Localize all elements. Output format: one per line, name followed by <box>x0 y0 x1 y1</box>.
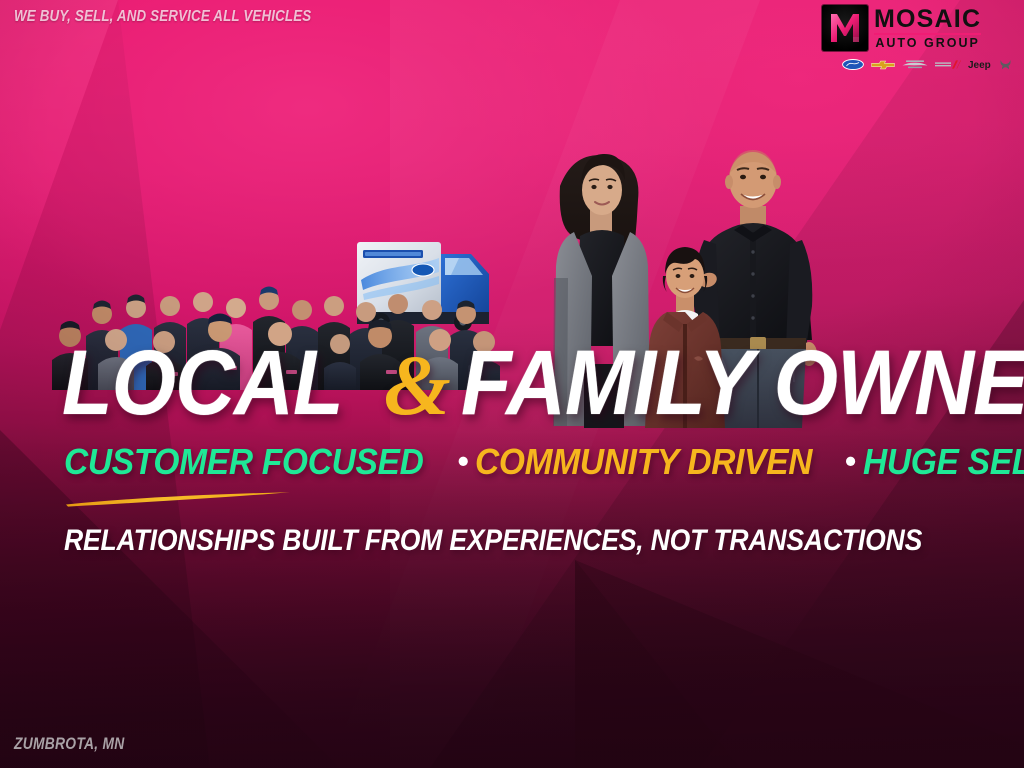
brand-logo-strip: Jeep <box>822 57 1014 72</box>
tagline-separator-2-icon: • <box>838 445 863 477</box>
ram-head-icon <box>999 58 1012 71</box>
mosaic-m-monogram-icon <box>822 5 868 51</box>
dodge-stripes-icon <box>935 58 961 71</box>
headline: LOCAL & FAMILY OWNED <box>62 345 972 431</box>
headline-part-2: FAMILY OWNED <box>461 345 1024 422</box>
logo-name: MOSAIC <box>874 7 981 32</box>
logo-text: MOSAIC AUTO GROUP <box>874 5 981 50</box>
advertisement-banner: WE BUY, SELL, AND SERVICE ALL VEHICLES <box>0 0 1024 768</box>
svg-text:Jeep: Jeep <box>968 60 991 70</box>
ford-oval-icon <box>842 58 864 71</box>
chrysler-wings-icon <box>902 58 928 71</box>
logo-row: MOSAIC AUTO GROUP <box>822 5 1014 53</box>
tagline-item-1: CUSTOMER FOCUSED <box>64 444 424 480</box>
logo-subname: AUTO GROUP <box>874 37 981 50</box>
gold-swoosh-divider-icon <box>64 489 294 509</box>
jeep-wordmark-icon: Jeep <box>968 58 992 71</box>
headline-part-1: LOCAL <box>62 345 343 422</box>
tagline-item-3: HUGE SELECTION <box>863 444 1024 480</box>
brand-logo[interactable]: MOSAIC AUTO GROUP <box>822 5 1014 73</box>
headline-ampersand: & <box>374 349 461 421</box>
tagline-item-2: COMMUNITY DRIVEN <box>475 444 812 480</box>
logo-divider <box>874 33 981 35</box>
subtitle: RELATIONSHIPS BUILT FROM EXPERIENCES, NO… <box>64 524 922 558</box>
tagline-separator-1-icon: • <box>451 445 476 477</box>
chevrolet-bowtie-icon <box>871 58 895 71</box>
location-label: ZUMBROTA, MN <box>14 735 125 754</box>
tagline-row: CUSTOMER FOCUSED • COMMUNITY DRIVEN • HU… <box>64 444 1024 480</box>
top-tagline: WE BUY, SELL, AND SERVICE ALL VEHICLES <box>14 8 311 26</box>
